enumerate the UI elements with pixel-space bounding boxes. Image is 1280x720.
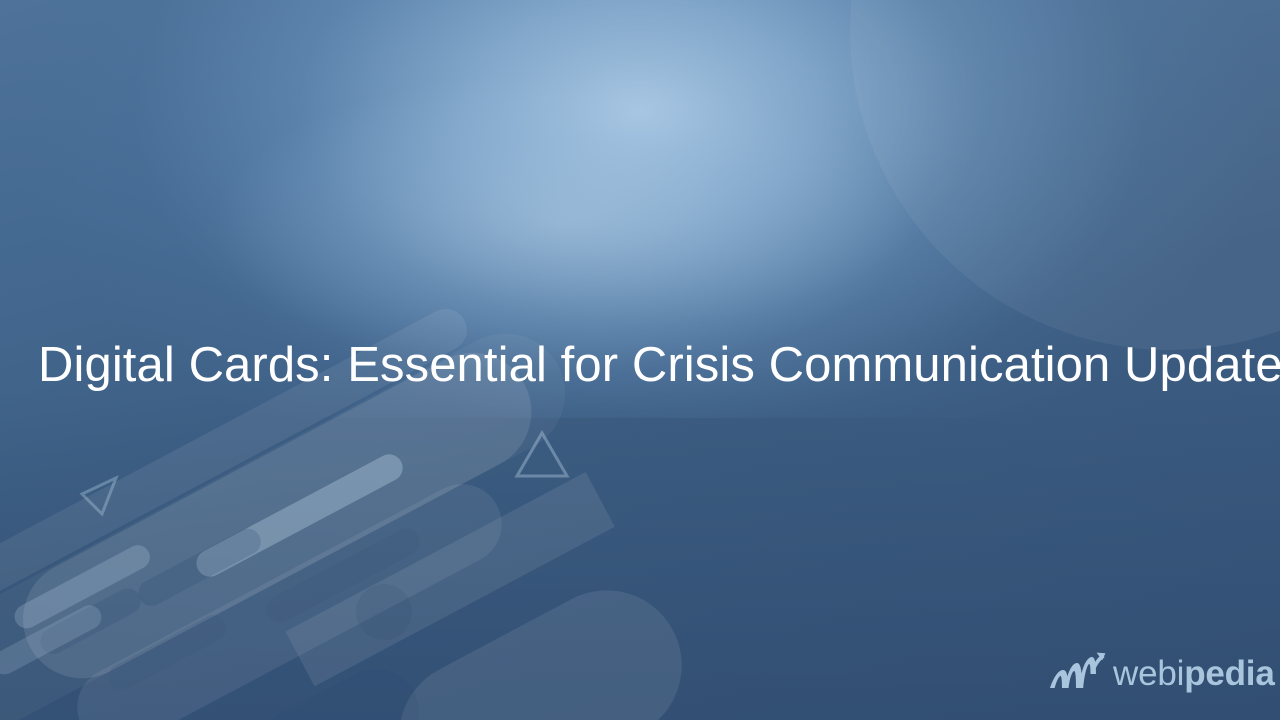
wordmark-light-part: webi [1113,654,1184,693]
webipedia-logo: webipedia [1048,652,1275,694]
wordmark-bold-part: pedia [1184,654,1274,693]
title-slide: Digital Cards: Essential for Crisis Comm… [0,0,1280,720]
webipedia-w-arrow-mark-icon [1048,652,1106,694]
triangle-outline-icon [512,428,572,482]
webipedia-wordmark: webipedia [1113,656,1275,691]
slide-title: Digital Cards: Essential for Crisis Comm… [38,336,1253,394]
rotated-triangle-outline-icon [76,472,124,520]
circle-accent [356,584,412,640]
decorative-shape-cluster [0,420,660,720]
